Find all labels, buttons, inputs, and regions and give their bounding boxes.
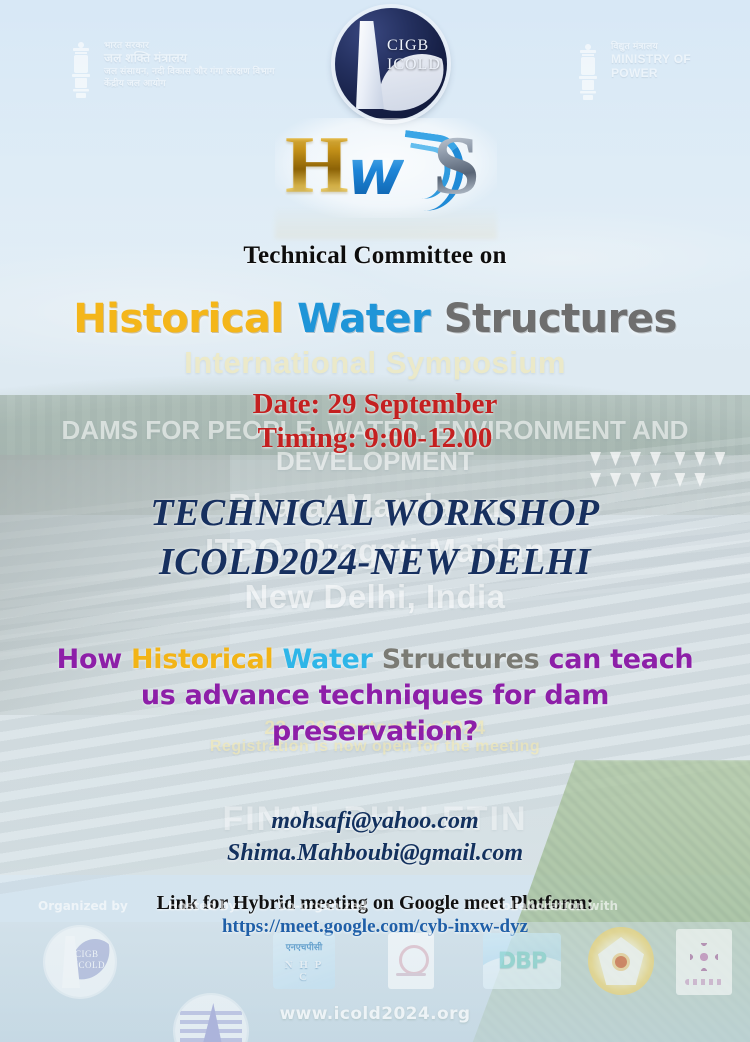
question-rest-1: can teach [539, 644, 693, 675]
logo-cigb-icold: CIGB ICOLD [45, 927, 115, 997]
logo-partner-2 [676, 929, 732, 995]
emblem-left-line-3: जल संसाधन, नदी विकास और गंगा संरक्षण विभ… [104, 65, 275, 77]
bunting-flags-decoration [590, 452, 740, 494]
partner-2-diamond-icon [690, 943, 718, 971]
workshop-heading: TECHNICAL WORKSHOP ICOLD2024-NEW DELHI [0, 489, 750, 587]
title-part-structures: Structures [444, 296, 677, 342]
emblem-left-text: भारत सरकार जल शक्ति मंत्रालय जल संसाधन, … [104, 39, 275, 89]
emblem-right-ministry-of-power: विद्युत मंत्रालय MINISTRY OF POWER [575, 38, 735, 108]
schedule-date: Date: 29 September [0, 387, 750, 421]
question-word-how: How [57, 644, 131, 675]
ministry-hindi-label: विद्युत मंत्रालय [611, 40, 691, 52]
icold-logo-text: CIGB ICOLD [387, 36, 441, 74]
question-line-2: us advance techniques for dam [0, 678, 750, 714]
committee-line: Technical Committee on [0, 242, 750, 270]
page-title: Historical Water Structures [0, 296, 750, 342]
icold-logo-line-2: ICOLD [387, 55, 441, 74]
poster-root: International Symposium DAMS FOR PEOPLE,… [0, 0, 750, 1042]
question-line-3: preservation? [0, 714, 750, 750]
contact-email-2[interactable]: Shima.Mahboubi@gmail.com [0, 837, 750, 869]
partner-2-wave-icon [685, 979, 723, 985]
hws-logo: H w S [275, 118, 497, 218]
emblem-right-text: विद्युत मंत्रालय MINISTRY OF POWER [611, 40, 691, 80]
icold-logo-line-1: CIGB [387, 36, 441, 55]
schedule-block: Date: 29 September Timing: 9:00-12.00 [0, 387, 750, 455]
workshop-line-2: ICOLD2024-NEW DELHI [0, 538, 750, 587]
website-url[interactable]: www.icold2024.org [0, 1004, 750, 1024]
credit-hosted-by: Hosted by [168, 899, 236, 913]
title-part-water: Water [297, 296, 430, 342]
hws-letter-h: H [285, 124, 349, 206]
icold-logo-dam-shape [356, 21, 384, 109]
question-block: How Historical Water Structures can teac… [0, 642, 750, 750]
cigb-logo-text: CIGB ICOLD [75, 949, 105, 971]
schedule-timing: Timing: 9:00-12.00 [0, 421, 750, 455]
credit-in-collaboration: In collaboration with [478, 899, 618, 913]
emblem-left-line-4: केंद्रीय जल आयोग [104, 77, 275, 89]
india-emblem-icon [68, 38, 94, 100]
emblem-left-govt-of-india: भारत सरकार जल शक्ति मंत्रालय जल संसाधन, … [68, 36, 283, 114]
question-word-structures: Structures [382, 644, 540, 675]
title-part-historical: Historical [73, 296, 283, 342]
logo-dbp: DBP [483, 933, 561, 989]
credit-co-organized: Co-organized [278, 899, 367, 913]
partner-1-ring-icon [399, 945, 429, 975]
ghost-symposium: International Symposium [0, 345, 750, 381]
partner-logo-bar: CIGB ICOLD एनएचपीसी N H P C DBP [0, 925, 750, 1000]
hws-letter-s: S [433, 124, 480, 208]
question-space-1 [273, 644, 282, 675]
logo-partner-1 [388, 933, 434, 989]
nhpc-logo-hindi: एनएचपीसी [279, 940, 329, 953]
logo-nhpc: एनएचपीसी N H P C [273, 933, 335, 989]
dbp-logo-text: DBP [483, 949, 561, 974]
nhpc-logo-name: N H P C [279, 959, 329, 983]
credits-row: Organized by Hosted by Co-organized In c… [0, 899, 750, 927]
question-word-historical: Historical [131, 644, 273, 675]
gold-seal-center-dot-icon [615, 956, 627, 968]
india-emblem-icon [575, 40, 601, 102]
contact-emails: mohsafi@yahoo.com Shima.Mahboubi@gmail.c… [0, 805, 750, 869]
cigb-logo-line-1: CIGB [75, 949, 105, 960]
emblem-left-line-1: भारत सरकार [104, 39, 275, 51]
question-space-2 [373, 644, 382, 675]
credit-organized-by: Organized by [38, 899, 128, 913]
logo-gold-seal [588, 927, 654, 995]
emblem-left-line-2: जल शक्ति मंत्रालय [104, 51, 275, 65]
ministry-line-1: MINISTRY OF [611, 52, 691, 66]
partner-1-bar-icon [396, 973, 426, 976]
question-line-1: How Historical Water Structures can teac… [0, 642, 750, 678]
cigb-icold-logo: CIGB ICOLD [335, 8, 447, 120]
workshop-line-1: TECHNICAL WORKSHOP [0, 489, 750, 538]
ministry-line-2: POWER [611, 66, 691, 80]
question-word-water: Water [283, 644, 373, 675]
cigb-logo-line-2: ICOLD [75, 960, 105, 971]
contact-email-1[interactable]: mohsafi@yahoo.com [0, 805, 750, 837]
